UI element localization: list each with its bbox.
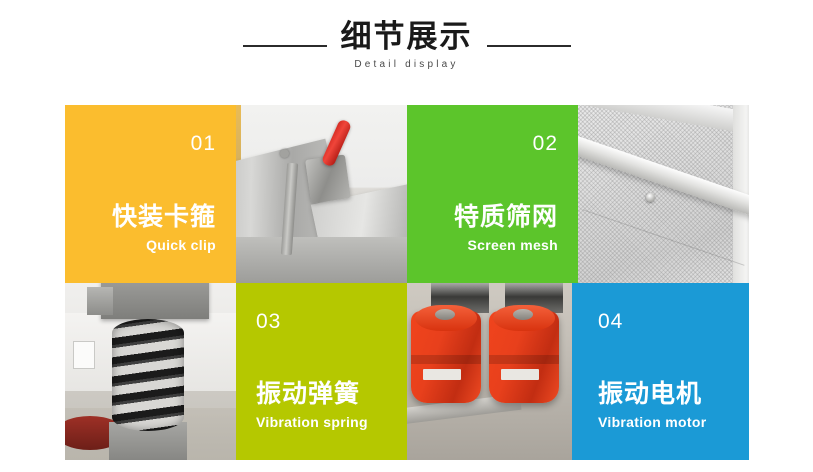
machine-base [236,237,407,283]
vibration-motor-photo [407,283,578,460]
page-title-en: Detail display [341,60,473,70]
tile-title-cn-02: 特质筛网 [454,203,558,231]
grid-cell-label-03: 03 振动弹簧 Vibration spring [236,283,407,460]
detail-grid: 01 快装卡箍 Quick clip 02 特质筛网 Screen mesh [65,105,751,460]
tile-number-02: 02 [533,133,558,154]
tile-title-en-03: Vibration spring [256,415,368,430]
motor-nameplate-right [501,369,539,380]
clamp-bolt [280,149,289,158]
motor-nameplate-left [423,369,461,380]
motor-band-left [411,355,481,364]
vibration-motor-right [489,311,559,403]
mesh-rivet [645,192,656,203]
mesh-support-bar [578,130,749,226]
grid-cell-label-01: 01 快装卡箍 Quick clip [65,105,236,283]
title-rule-right [487,45,571,47]
spring-top-bracket [101,283,209,319]
tile-title-cn-04: 振动电机 [598,380,702,408]
page-header: 细节展示 Detail display [0,0,813,105]
label-tile-03: 03 振动弹簧 Vibration spring [236,283,407,460]
spring-bracket-tab [87,287,113,315]
tile-title-cn-01: 快装卡箍 [112,203,216,231]
tile-title-en-01: Quick clip [146,238,216,253]
tile-title-en-04: Vibration motor [598,415,706,430]
header-title-group: 细节展示 Detail display [243,22,571,70]
vibration-spring-photo [65,283,236,460]
tile-number-01: 01 [191,133,216,154]
label-tile-01: 01 快装卡箍 Quick clip [65,105,236,283]
page-title: 细节展示 Detail display [341,22,473,70]
tile-number-04: 04 [598,311,623,332]
tile-title-en-02: Screen mesh [468,238,558,253]
quick-clip-toggle-clamp-photo [236,105,407,283]
motor-hub-right [513,309,533,320]
label-tile-04: 04 振动电机 Vibration motor [578,283,749,460]
grid-cell-photo-vibration-spring [65,283,236,460]
grid-cell-photo-screen-mesh [578,105,749,283]
label-tile-02: 02 特质筛网 Screen mesh [407,105,578,283]
grid-cell-photo-quick-clip [236,105,407,283]
black-coil-spring [112,319,184,431]
grid-cell-photo-vibration-motor [407,283,578,460]
mesh-seam [582,209,744,266]
grid-cell-label-04: 04 振动电机 Vibration motor [578,283,749,460]
grid-cell-label-02: 02 特质筛网 Screen mesh [407,105,578,283]
motor-hub-left [435,309,455,320]
mesh-frame-top [578,105,749,134]
title-rule-left [243,45,327,47]
wall-switch-plate [73,341,95,369]
page-title-cn: 细节展示 [341,22,473,53]
motor-band-right [489,355,559,364]
screen-mesh-photo [578,105,749,283]
vibration-motor-left [411,311,481,403]
tile-title-cn-03: 振动弹簧 [256,380,360,408]
tile-number-03: 03 [256,311,281,332]
